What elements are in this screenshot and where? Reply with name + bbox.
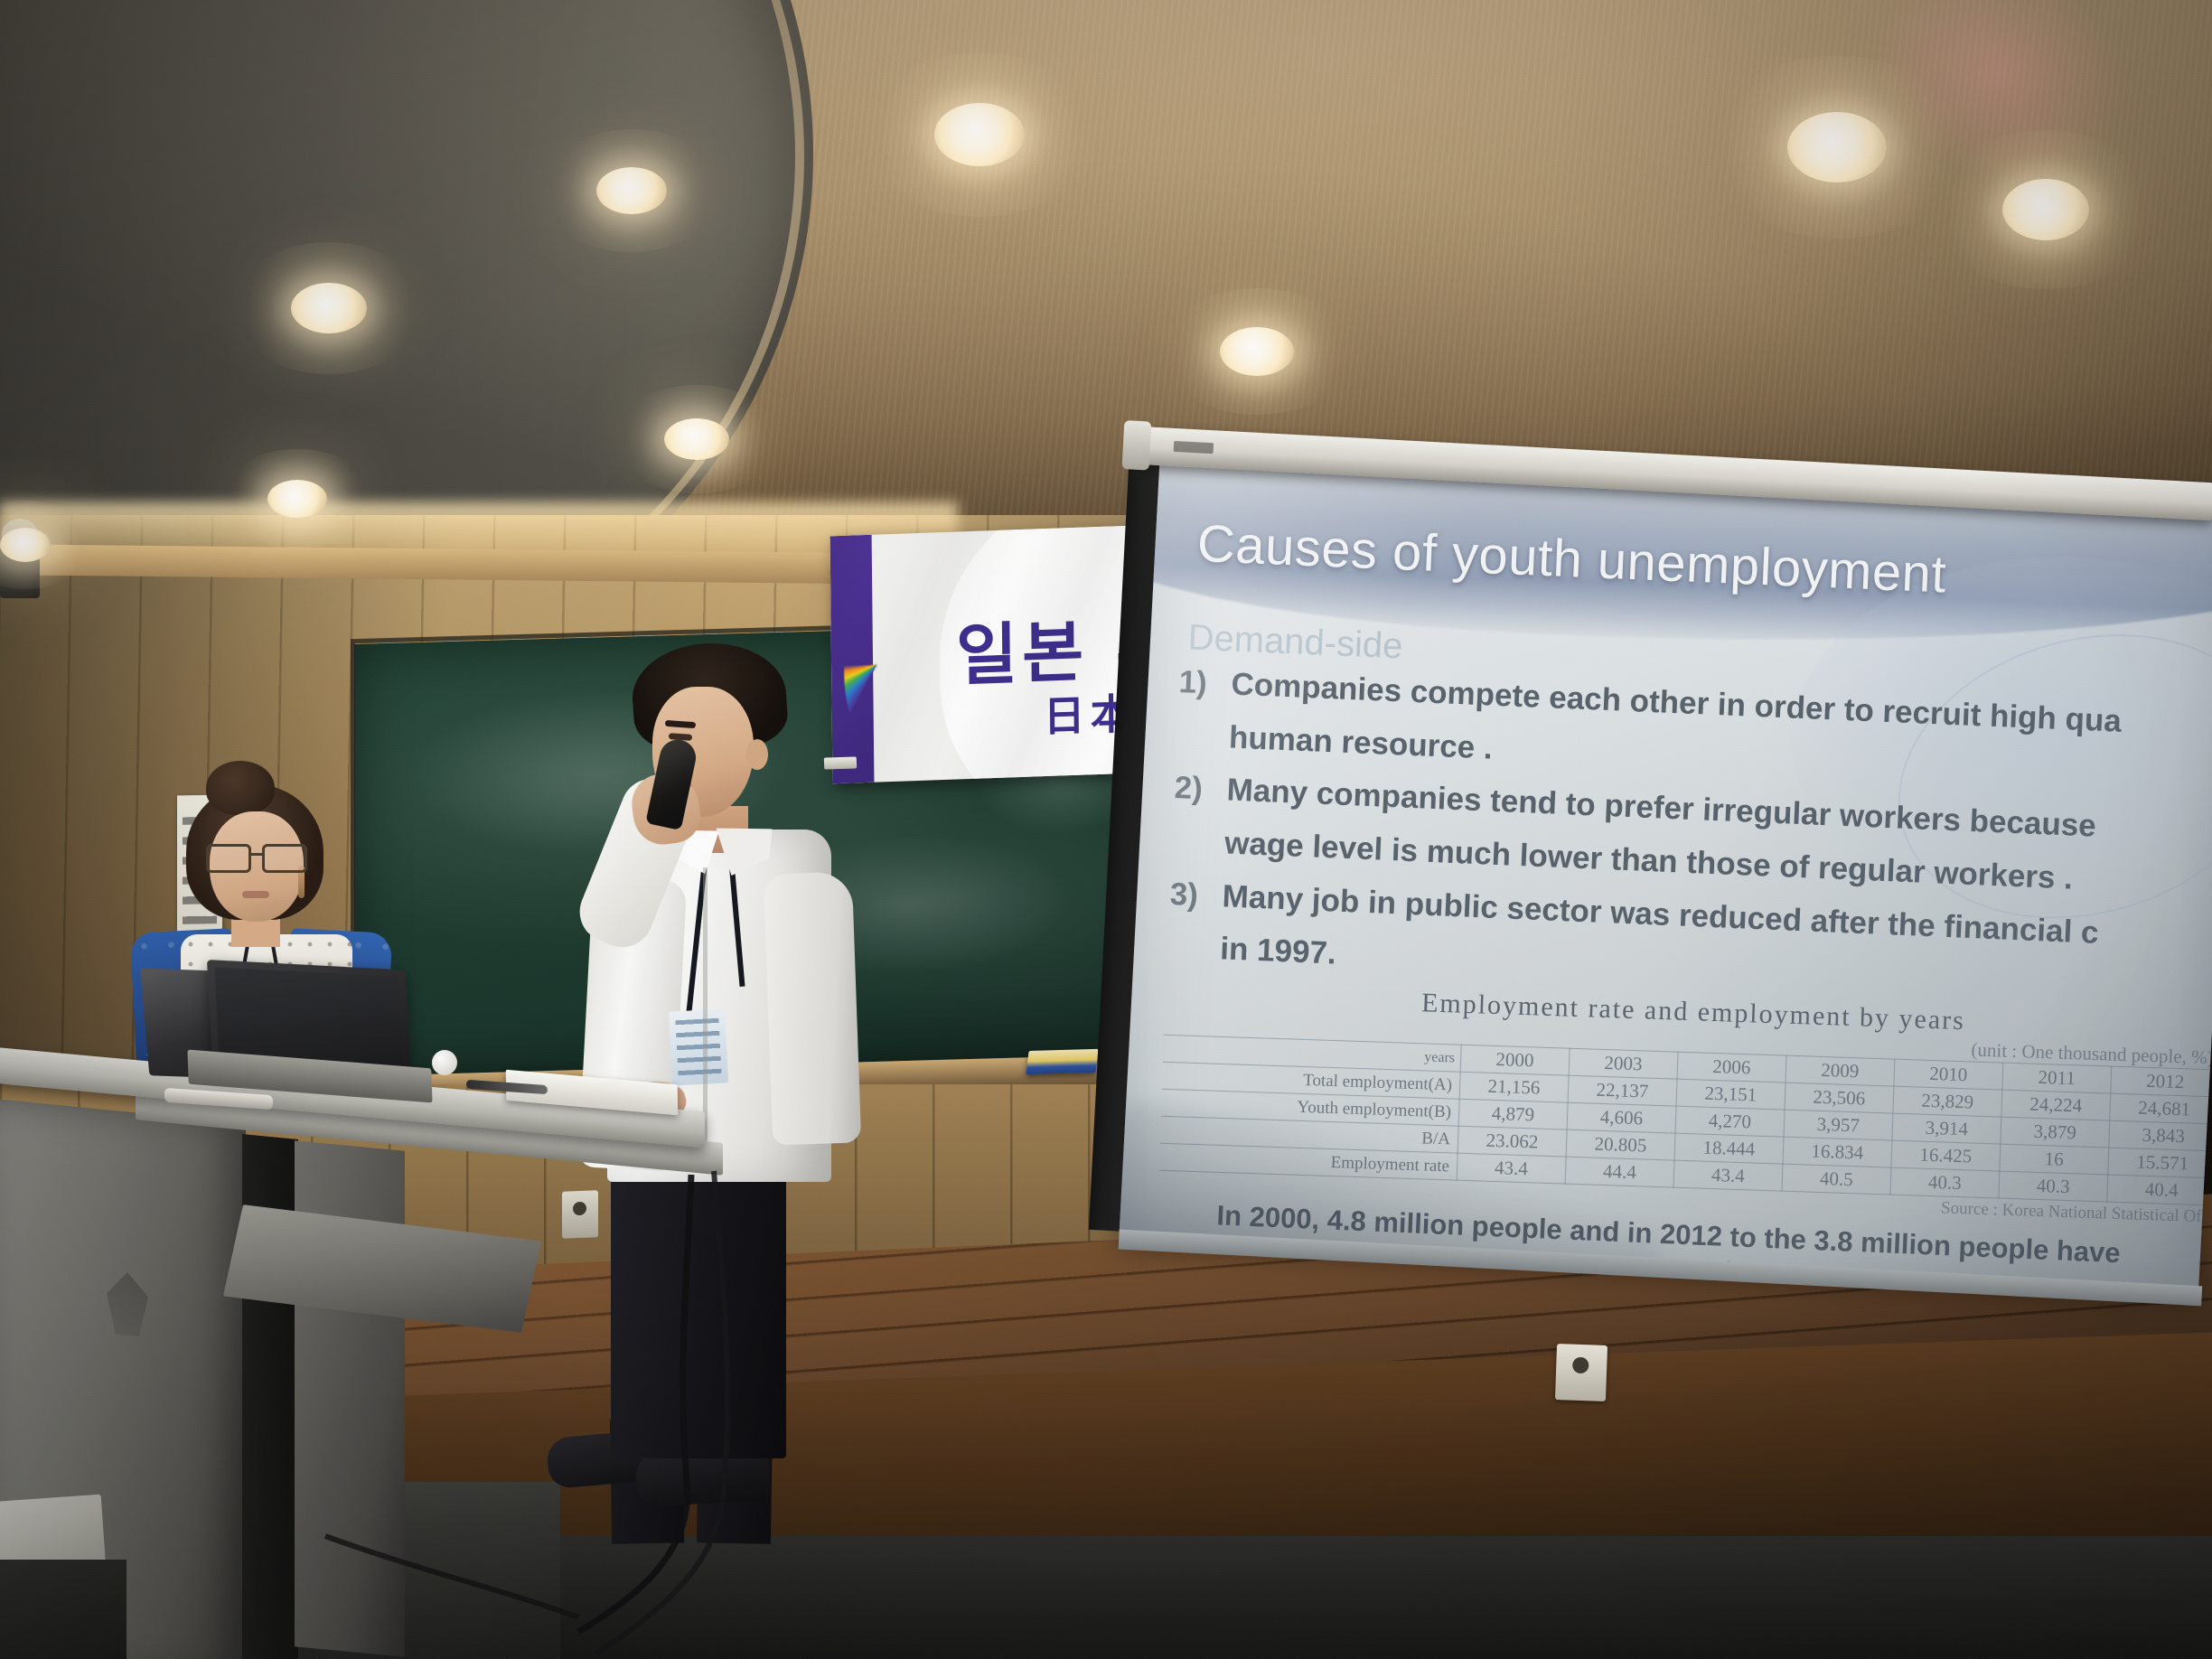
man-ear	[746, 739, 768, 770]
banner-mount-bracket	[824, 756, 857, 769]
glasses-icon	[206, 844, 307, 867]
table-cell: 23,506	[1785, 1083, 1894, 1113]
table-cell: 24,224	[2001, 1090, 2111, 1120]
outlet-hole	[1572, 1357, 1589, 1374]
downlight-bulb	[664, 418, 729, 460]
woman-hair-bun	[206, 761, 275, 815]
table-cell: 16	[2000, 1144, 2109, 1175]
outlet-hole	[573, 1202, 586, 1216]
downlight-bulb	[596, 167, 667, 214]
table-year-header: 2010	[1894, 1059, 2003, 1090]
table-cell: 23,829	[1893, 1086, 2002, 1117]
table-cell: 24,681	[2110, 1093, 2212, 1124]
man-right-sleeve	[764, 871, 861, 1145]
table-cell: 3,914	[1892, 1113, 2001, 1144]
foreground-dark-object	[0, 1560, 127, 1659]
table-cell: 40.3	[1999, 1171, 2108, 1202]
chalk-box	[1026, 1049, 1098, 1074]
table-cell: 3,843	[2109, 1120, 2212, 1151]
table-cell: 21,156	[1459, 1072, 1569, 1102]
wall-outlet-stage[interactable]	[1555, 1344, 1607, 1401]
white-ball-object	[432, 1050, 457, 1075]
table-cell: 18.444	[1674, 1133, 1784, 1164]
downlight-bulb	[1220, 327, 1294, 376]
table-cell: 23,151	[1676, 1079, 1786, 1110]
downlight-bulb	[0, 528, 51, 562]
downlight-bulb	[291, 283, 367, 333]
table-year-header: 2003	[1569, 1048, 1678, 1079]
ceiling-downlight	[934, 103, 1025, 166]
slide-bullet-list: 1) Companies compete each other in order…	[1167, 657, 2212, 1018]
ceiling-downlight	[1220, 327, 1294, 376]
table-cell: 16.425	[1891, 1140, 2001, 1171]
table-year-header: 2011	[2002, 1063, 2112, 1093]
downlight-bulb	[934, 103, 1025, 166]
table-cell: 40.5	[1782, 1164, 1891, 1195]
bullet-text-line2: in 1997.	[1219, 924, 1337, 980]
bullet-text-line2: human resource .	[1228, 712, 1494, 774]
screen-brand-label	[1174, 441, 1214, 454]
table-cell: 40.4	[2107, 1175, 2212, 1205]
table-cell: 43.4	[1673, 1160, 1783, 1191]
projection-screen: Causes of youth unemployment Demand-side…	[1086, 416, 2212, 1331]
bullet-number: 1)	[1177, 657, 1232, 710]
table-year-header: 2006	[1677, 1052, 1786, 1083]
presentation-photo: 일본 츄오 日本 中 Causes of youth unemployment …	[0, 0, 2212, 1659]
table-cell: 22,137	[1568, 1075, 1677, 1106]
table-cell: 4,270	[1675, 1106, 1785, 1137]
ceiling-downlight	[291, 283, 367, 333]
man-trousers	[611, 1162, 786, 1458]
ceiling-downlight	[0, 528, 51, 562]
ceiling-downlight	[664, 418, 729, 460]
table-cell: 40.3	[1890, 1167, 2000, 1198]
table-year-header: 2000	[1460, 1045, 1570, 1075]
table-cell: 16.834	[1783, 1137, 1892, 1167]
table-year-header: 2012	[2111, 1066, 2212, 1097]
bullet-number: 3)	[1169, 869, 1223, 923]
screen-housing-end-cap	[1122, 420, 1152, 470]
table-cell: 3,957	[1784, 1110, 1893, 1140]
man-name-badge	[669, 1008, 728, 1085]
glasses-left-lens	[206, 844, 251, 873]
table-cell: 3,879	[2001, 1117, 2110, 1148]
badge-text-lines	[675, 1018, 721, 1076]
glasses-right-lens	[262, 844, 307, 873]
bullet-number: 2)	[1174, 763, 1228, 816]
table-year-header: 2009	[1786, 1055, 1895, 1086]
woman-mouth	[242, 891, 269, 898]
ceiling-downlight	[596, 167, 667, 214]
wall-outlet-left[interactable]	[562, 1190, 598, 1238]
ceiling-downlight	[267, 480, 327, 518]
projected-slide-surface: Causes of youth unemployment Demand-side…	[1119, 459, 2212, 1293]
table-cell: 15.571	[2108, 1148, 2212, 1178]
downlight-bulb	[267, 480, 327, 518]
